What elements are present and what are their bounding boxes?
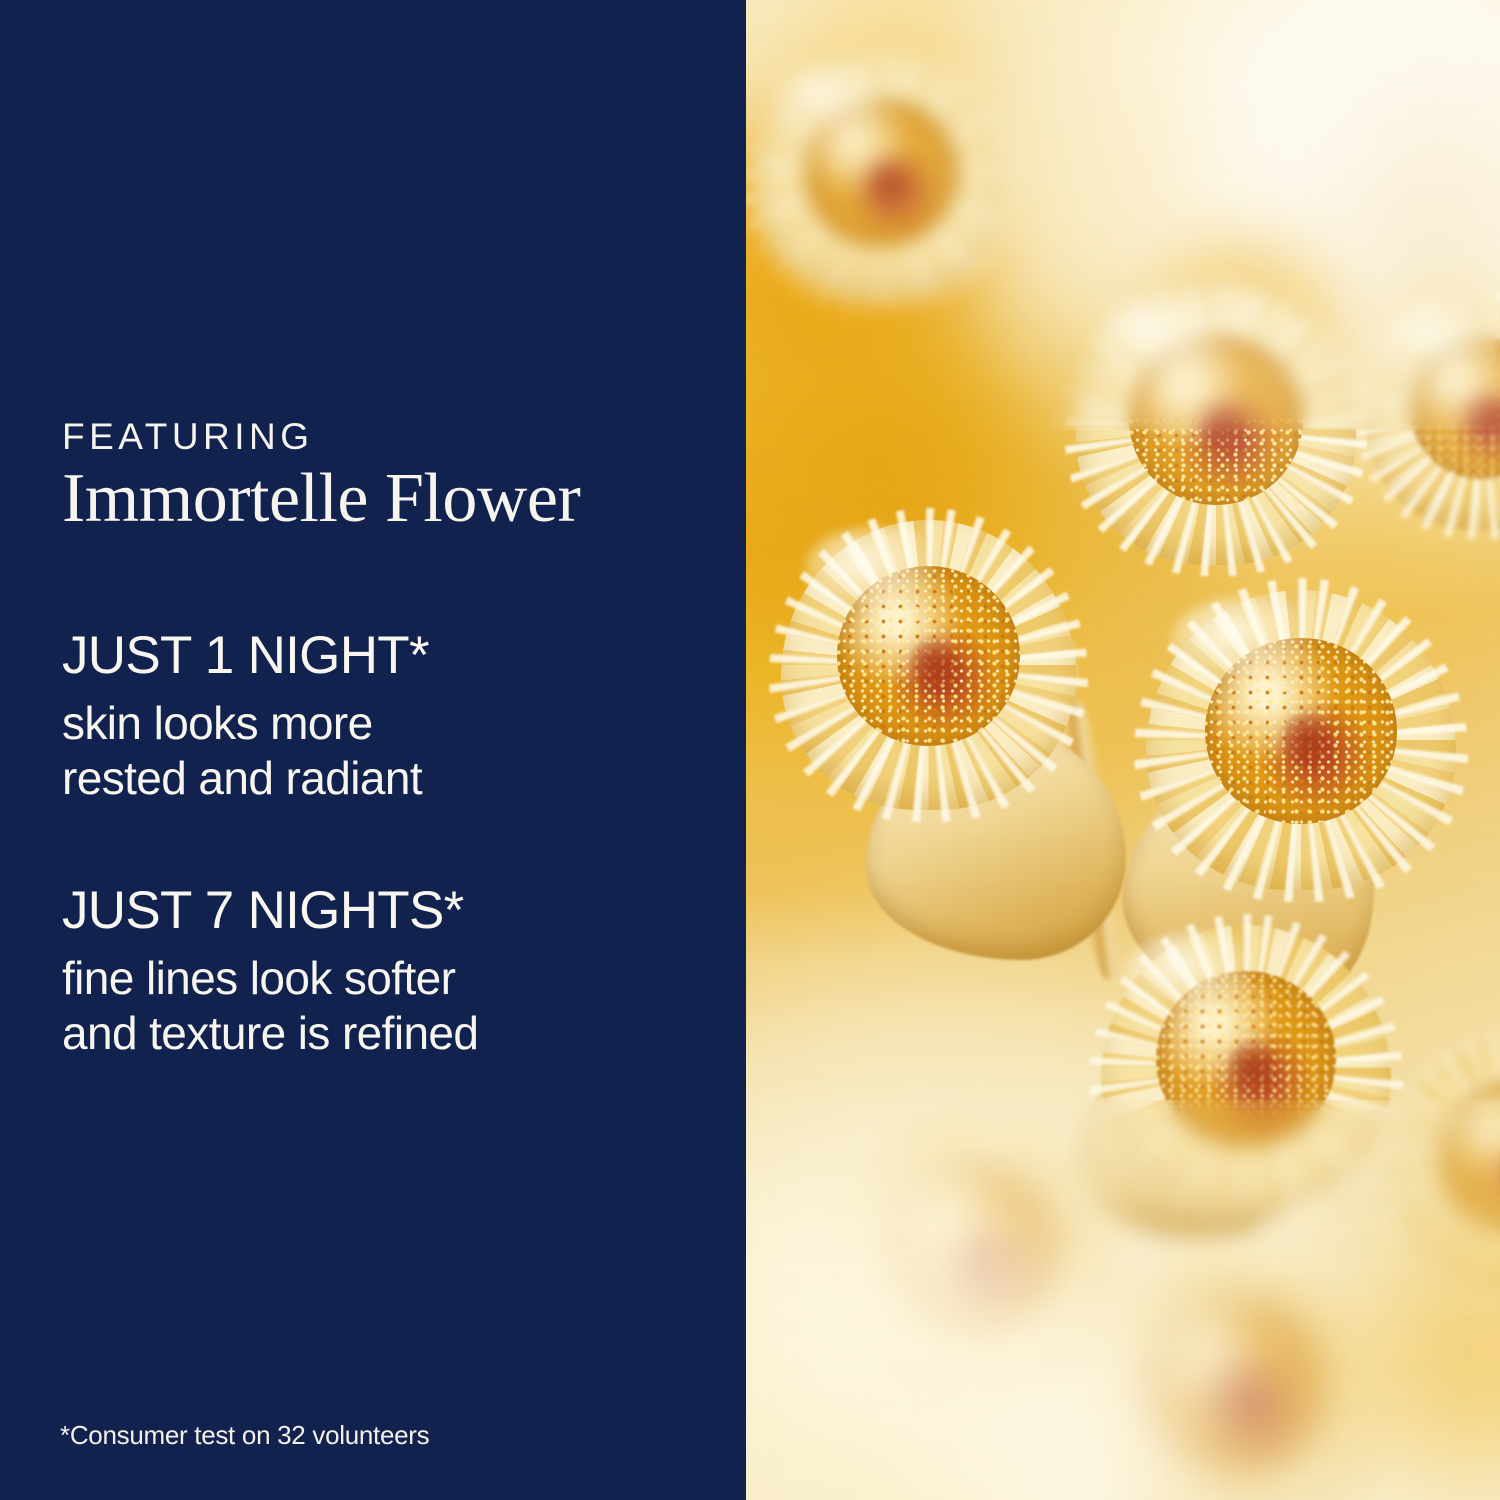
claim-line: skin looks more xyxy=(62,696,722,751)
featuring-eyebrow: FEATURING xyxy=(62,418,722,457)
bloom-highlight xyxy=(1384,305,1494,374)
copy-panel: FEATURING Immortelle Flower JUST 1 NIGHT… xyxy=(0,0,746,1500)
immortelle-flower-photo xyxy=(746,0,1500,1500)
bloom-highlight xyxy=(1171,596,1320,686)
bloom-highlight xyxy=(1124,931,1263,1017)
immortelle-bloom xyxy=(1146,590,1456,890)
bloom-highlight xyxy=(805,526,947,613)
ingredient-title: Immortelle Flower xyxy=(62,464,722,534)
immortelle-bloom xyxy=(1366,300,1500,530)
bloom-highlight xyxy=(1098,296,1232,379)
bloom-highlight xyxy=(776,65,896,137)
claim-block-nights-7: JUST 7 NIGHTS* fine lines look softer an… xyxy=(62,884,722,1061)
claim-body-nights-7: fine lines look softer and texture is re… xyxy=(62,951,722,1061)
claim-line: rested and radiant xyxy=(62,751,722,806)
headline-stack: FEATURING Immortelle Flower JUST 1 NIGHT… xyxy=(62,418,722,1062)
claim-line: fine lines look softer xyxy=(62,951,722,1006)
immortelle-bloom xyxy=(1076,290,1356,565)
immortelle-bloom xyxy=(756,60,1006,300)
claim-block-night-1: JUST 1 NIGHT* skin looks more rested and… xyxy=(62,629,722,806)
bloom-disc-florets xyxy=(1439,1080,1500,1235)
claim-headline-nights-7: JUST 7 NIGHTS* xyxy=(62,884,722,937)
claim-line: and texture is refined xyxy=(62,1006,722,1061)
immortelle-bloom xyxy=(781,520,1076,810)
product-ingredient-banner: FEATURING Immortelle Flower JUST 1 NIGHT… xyxy=(0,0,1500,1500)
claim-headline-night-1: JUST 1 NIGHT* xyxy=(62,629,722,682)
immortelle-bloom xyxy=(1101,925,1391,1210)
claim-body-night-1: skin looks more rested and radiant xyxy=(62,696,722,806)
consumer-test-footnote: *Consumer test on 32 volunteers xyxy=(60,1420,429,1451)
